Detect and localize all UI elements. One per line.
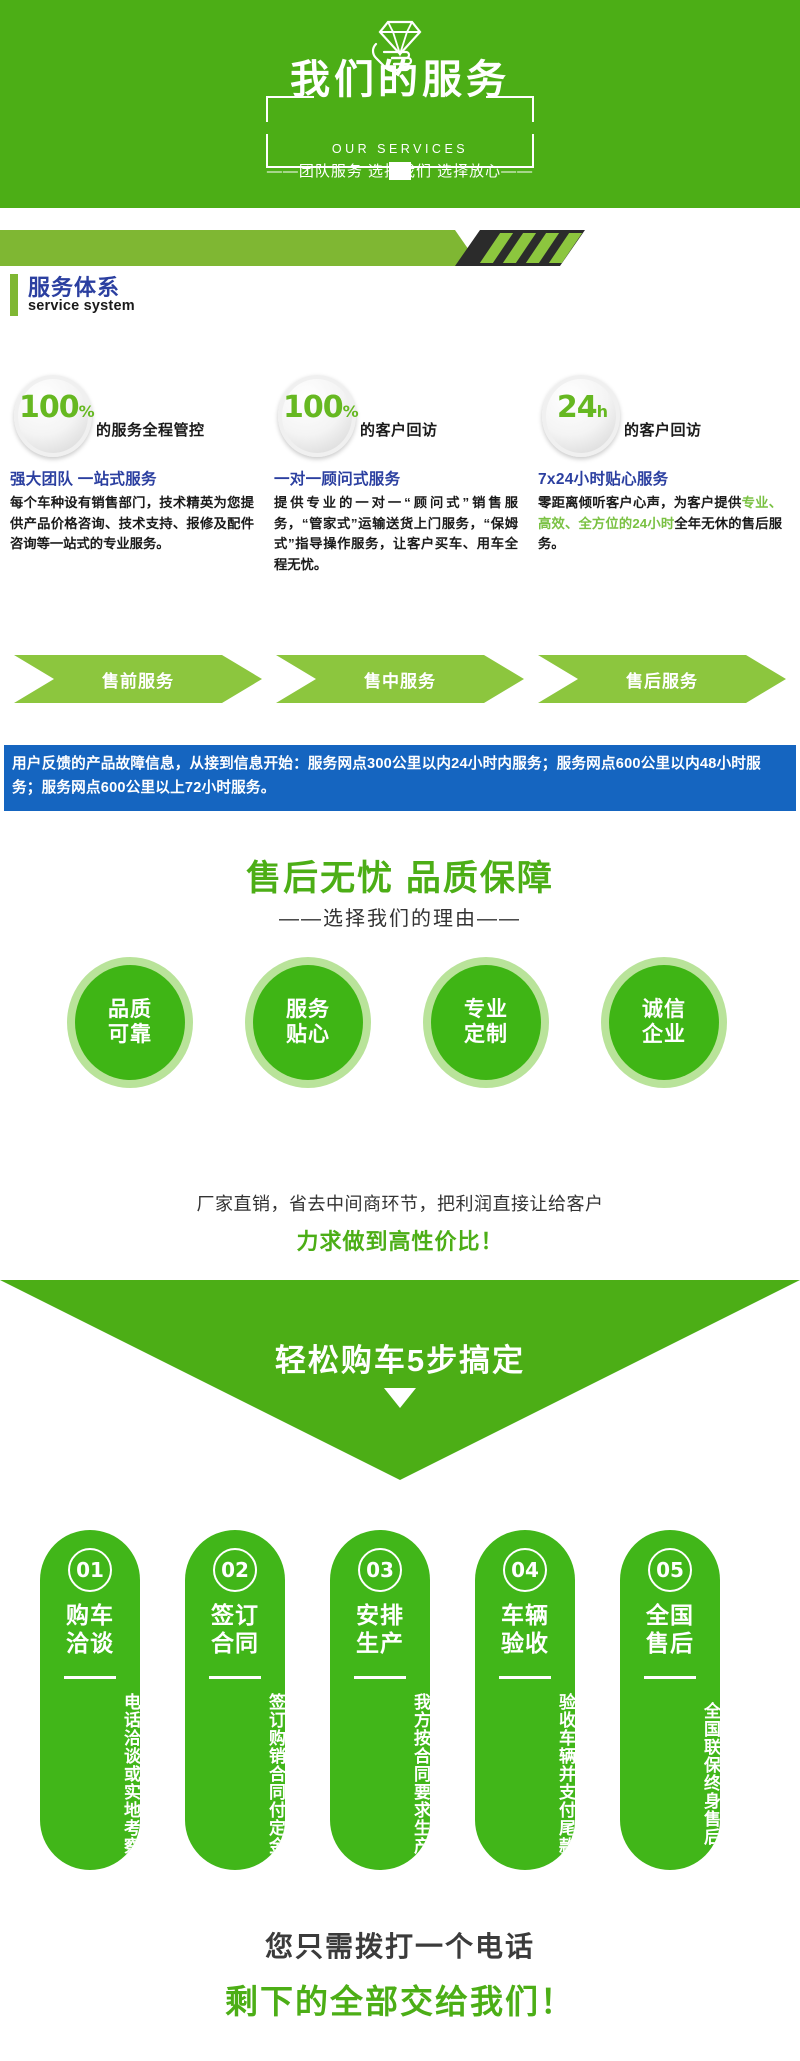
step-number-3: 03 [358, 1548, 402, 1592]
step-divider [64, 1676, 116, 1679]
step-title-4: 车辆验收 [475, 1602, 575, 1657]
value-for-money-line: 力求做到高性价比！ [0, 1224, 800, 1256]
card-body-1: 每个车种设有销售部门，技术精英为您提供产品价格咨询、技术支持、报修及配件咨询等一… [10, 493, 254, 555]
step-divider [644, 1676, 696, 1679]
badge-label-2: 的客户回访 [360, 419, 438, 440]
step-desc-5: 全国联保终身售后 [620, 1688, 720, 1860]
service-card-2: 100% 的客户回访 一对一顾问式服务 提供专业的一对一“顾问式”销售服务，“管… [272, 375, 522, 463]
service-policy-bar: 用户反馈的产品故障信息，从接到信息开始：服务网点300公里以内24小时内服务；服… [4, 745, 796, 811]
card-title-1: 强大团队 一站式服务 [10, 467, 157, 489]
badge-label-3: 的客户回访 [624, 419, 702, 440]
arrow-insale[interactable]: 售中服务 [276, 655, 524, 703]
step-title-5: 全国售后 [620, 1602, 720, 1657]
hero-banner: 我们的服务 OUR SERVICES ——团队服务 选择我们 选择放心—— [0, 0, 800, 208]
service-card-3: 24h 的客户回访 7x24小时贴心服务 零距离倾听客户心声，为客户提供专业、高… [536, 375, 786, 463]
ribbon-green-band [0, 230, 480, 266]
step-divider [499, 1676, 551, 1679]
badge-row-1: 100% 的服务全程管控 [8, 375, 258, 463]
down-triangle-icon [384, 1388, 416, 1408]
service-card-1: 100% 的服务全程管控 强大团队 一站式服务 每个车种设有销售部门，技术精英为… [8, 375, 258, 463]
process-arrows: 售前服务 售中服务 售后服务 [0, 655, 800, 715]
decorative-ribbon [0, 212, 800, 267]
step-title-2: 签订合同 [185, 1602, 285, 1657]
hero-frame [266, 96, 534, 168]
step-pill-1[interactable]: 01 购车洽谈 电话洽谈或实地考察 [40, 1530, 140, 1870]
cta-line-2: 剩下的全部交给我们！ [0, 1975, 800, 2023]
step-desc-2: 签订购销合同付定金 [185, 1688, 285, 1860]
reason-badge-4: 诚信企业 [609, 965, 719, 1080]
badge-row-2: 100% 的客户回访 [272, 375, 522, 463]
purchase-steps-row: 01 购车洽谈 电话洽谈或实地考察 02 签订合同 签订购销合同付定金 03 安… [0, 1530, 800, 1890]
badge-label-1: 的服务全程管控 [96, 419, 205, 440]
step-pill-5[interactable]: 05 全国售后 全国联保终身售后 [620, 1530, 720, 1870]
badge-number-1: 100% [19, 393, 89, 423]
step-number-1: 01 [68, 1548, 112, 1592]
badge-number-2: 100% [283, 393, 353, 423]
hero-tagline: ——团队服务 选择我们 选择放心—— [0, 160, 800, 181]
step-divider [209, 1676, 261, 1679]
step-title-3: 安排生产 [330, 1602, 430, 1657]
step-number-4: 04 [503, 1548, 547, 1592]
reason-badges-row: 品质可靠 服务贴心 专业定制 诚信企业 [0, 965, 800, 1130]
step-number-5: 05 [648, 1548, 692, 1592]
hero-title: 我们的服务 [290, 60, 510, 100]
heading-en: service system [28, 298, 135, 314]
step-number-2: 02 [213, 1548, 257, 1592]
badge-number-3: 24h [547, 393, 617, 423]
badge-row-3: 24h 的客户回访 [536, 375, 786, 463]
step-title-1: 购车洽谈 [40, 1602, 140, 1657]
arrow-presale[interactable]: 售前服务 [14, 655, 262, 703]
factory-direct-line: 厂家直销，省去中间商环节，把利润直接让给客户 [0, 1190, 800, 1216]
step-desc-1: 电话洽谈或实地考察 [40, 1688, 140, 1860]
step-pill-4[interactable]: 04 车辆验收 验收车辆并支付尾款 [475, 1530, 575, 1870]
heading-accent-bar [10, 274, 18, 316]
card-body-2: 提供专业的一对一“顾问式”销售服务，“管家式”运输送货上门服务，“保姆式”指导操… [274, 493, 518, 575]
reasons-subtitle: ——选择我们的理由—— [0, 902, 800, 931]
reason-badge-3: 专业定制 [431, 965, 541, 1080]
arrow-aftersale[interactable]: 售后服务 [538, 655, 786, 703]
five-steps-banner: 轻松购车5步搞定 [0, 1280, 800, 1480]
reasons-title: 售后无忧 品质保障 [0, 850, 800, 901]
step-divider [354, 1676, 406, 1679]
card-title-2: 一对一顾问式服务 [274, 467, 400, 489]
cta-line-1: 您只需拨打一个电话 [0, 1925, 800, 1965]
five-steps-title: 轻松购车5步搞定 [0, 1335, 800, 1380]
section-heading-service-system: 服务体系 service system [10, 272, 410, 320]
step-desc-4: 验收车辆并支付尾款 [475, 1688, 575, 1860]
chevron-shape [0, 1280, 800, 1480]
card-title-3: 7x24小时贴心服务 [538, 467, 668, 489]
service-cards-row: 100% 的服务全程管控 强大团队 一站式服务 每个车种设有销售部门，技术精英为… [0, 375, 800, 635]
step-desc-3: 我方按合同要求生产 [330, 1688, 430, 1860]
reason-badge-2: 服务贴心 [253, 965, 363, 1080]
hero-subtitle: OUR SERVICES [332, 142, 468, 156]
step-pill-3[interactable]: 03 安排生产 我方按合同要求生产 [330, 1530, 430, 1870]
reason-badge-1: 品质可靠 [75, 965, 185, 1080]
card-body-3: 零距离倾听客户心声，为客户提供专业、高效、全方位的24小时全年无休的售后服务。 [538, 493, 782, 555]
step-pill-2[interactable]: 02 签订合同 签订购销合同付定金 [185, 1530, 285, 1870]
